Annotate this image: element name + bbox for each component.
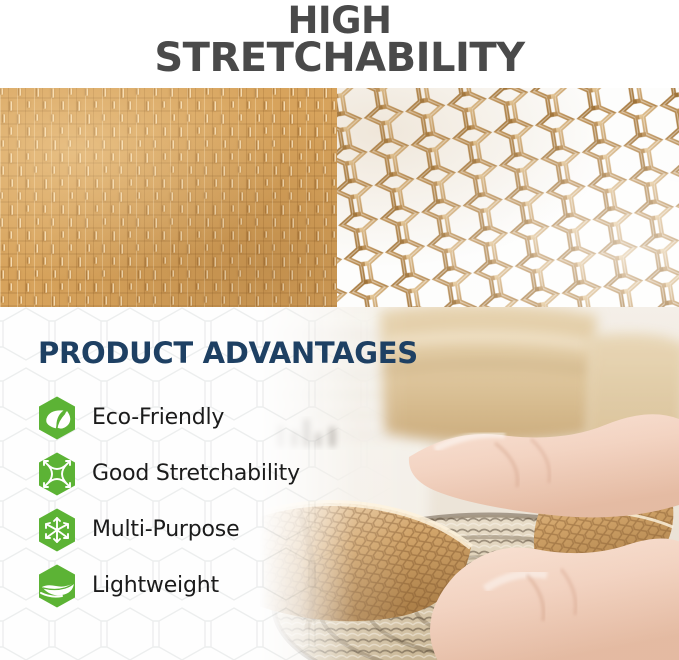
feather-icon xyxy=(34,563,80,609)
list-item-label: Good Stretchability xyxy=(92,461,300,486)
title-line-2: STRETCHABILITY xyxy=(0,39,679,77)
mesh-shading-overlay xyxy=(337,88,679,307)
list-item: Multi-Purpose xyxy=(34,502,414,557)
page-title: PRODUCT ADVANTAGES xyxy=(38,336,418,370)
advantages-list: Eco-Friendly Good Stretchability xyxy=(34,390,414,614)
list-item-label: Lightweight xyxy=(92,573,219,598)
paper-shading-overlay xyxy=(0,88,337,307)
list-item: Lightweight xyxy=(34,558,414,613)
list-item: Eco-Friendly xyxy=(34,390,414,445)
multi-direction-arrows-icon xyxy=(34,507,80,553)
title-block: HIGH STRETCHABILITY xyxy=(0,0,679,88)
list-item-label: Eco-Friendly xyxy=(92,405,224,430)
infographic-page: HIGH STRETCHABILITY xyxy=(0,0,679,660)
unexpanded-paper-panel xyxy=(0,88,337,307)
list-item-label: Multi-Purpose xyxy=(92,517,239,542)
texture-comparison-band xyxy=(0,88,679,307)
stretch-arrows-icon xyxy=(34,451,80,497)
title-line-1: HIGH xyxy=(0,0,679,39)
list-item: Good Stretchability xyxy=(34,446,414,501)
expanded-mesh-panel xyxy=(337,88,679,307)
leaf-icon xyxy=(34,395,80,441)
